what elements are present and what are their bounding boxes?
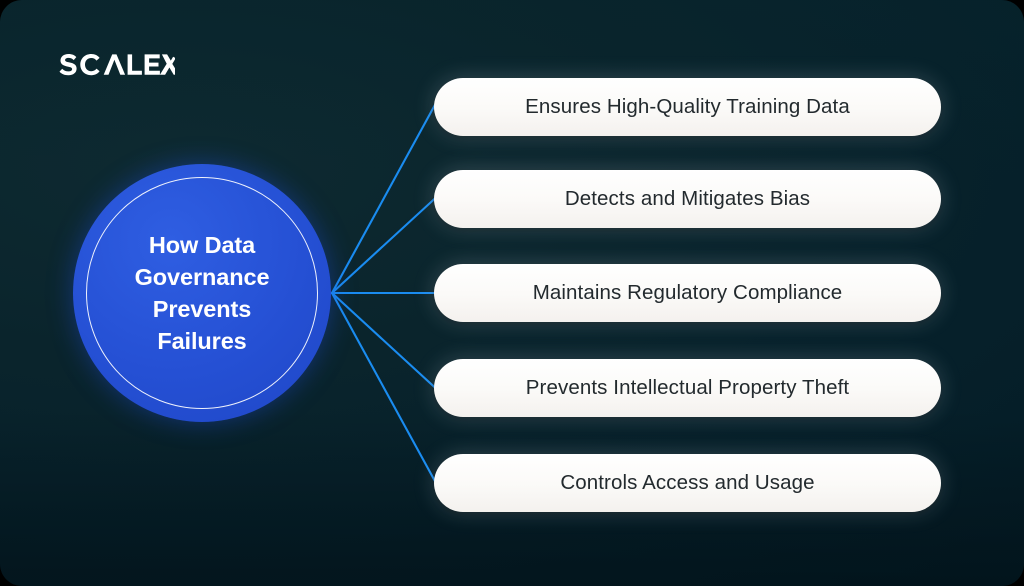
infographic-canvas: How Data Governance Prevents Failures En… bbox=[0, 0, 1024, 586]
connector-line-5 bbox=[332, 293, 442, 494]
benefit-pill-4[interactable]: Prevents Intellectual Property Theft bbox=[434, 359, 941, 417]
benefit-pill-3-label: Maintains Regulatory Compliance bbox=[533, 281, 843, 305]
brand-logo bbox=[57, 50, 175, 80]
benefit-pill-1-label: Ensures High-Quality Training Data bbox=[525, 95, 850, 119]
benefit-pill-5-label: Controls Access and Usage bbox=[560, 471, 814, 495]
benefit-pill-2[interactable]: Detects and Mitigates Bias bbox=[434, 170, 941, 228]
benefit-pill-4-label: Prevents Intellectual Property Theft bbox=[526, 376, 849, 400]
hub-circle: How Data Governance Prevents Failures bbox=[73, 164, 331, 422]
connector-line-1 bbox=[332, 92, 442, 293]
connector-line-2 bbox=[332, 192, 442, 293]
benefit-pill-3[interactable]: Maintains Regulatory Compliance bbox=[434, 264, 941, 322]
benefit-pill-1[interactable]: Ensures High-Quality Training Data bbox=[434, 78, 941, 136]
scalex-wordmark-icon bbox=[57, 52, 175, 78]
benefit-pill-2-label: Detects and Mitigates Bias bbox=[565, 187, 810, 211]
hub-title: How Data Governance Prevents Failures bbox=[117, 229, 288, 357]
connector-line-4 bbox=[332, 293, 442, 394]
benefit-pill-5[interactable]: Controls Access and Usage bbox=[434, 454, 941, 512]
